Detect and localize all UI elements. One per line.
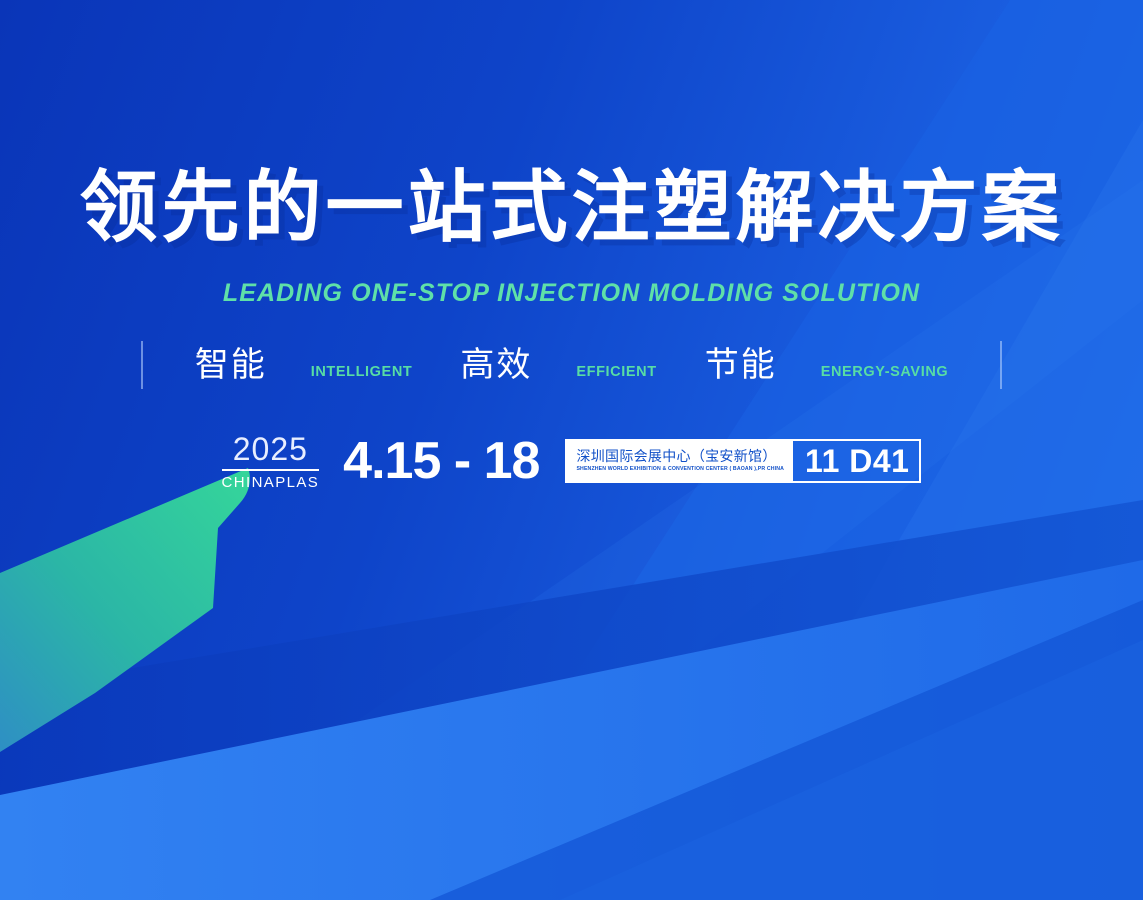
promo-banner: 领先的一站式注塑解决方案 LEADING ONE-STOP INJECTION … xyxy=(0,0,1143,900)
feature-label-en: ENERGY-SAVING xyxy=(821,365,949,380)
venue-block: 深圳国际会展中心（宝安新馆） SHENZHEN WORLD EXHIBITION… xyxy=(567,441,793,481)
venue-name-cn: 深圳国际会展中心（宝安新馆） xyxy=(576,449,784,464)
venue-name-en: SHENZHEN WORLD EXHIBITION & CONVENTION C… xyxy=(576,466,784,473)
event-dates: 4.15 - 18 xyxy=(343,435,539,487)
feature-item-intelligent: 智能 INTELLIGENT xyxy=(195,348,413,382)
feature-label-cn: 高效 xyxy=(460,348,532,382)
feature-label-cn: 节能 xyxy=(705,348,777,382)
feature-item-efficient: 高效 EFFICIENT xyxy=(460,348,656,382)
feature-label-cn: 智能 xyxy=(195,348,267,382)
venue-booth-box: 深圳国际会展中心（宝安新馆） SHENZHEN WORLD EXHIBITION… xyxy=(565,439,921,483)
chinaplas-year: 2025 xyxy=(222,433,320,465)
chinaplas-rule xyxy=(222,469,320,471)
feature-label-en: EFFICIENT xyxy=(576,365,656,380)
page-title: 领先的一站式注塑解决方案 xyxy=(0,168,1143,246)
chinaplas-logo: 2025 CHINAPLAS xyxy=(222,433,320,490)
chinaplas-name: CHINAPLAS xyxy=(222,475,320,490)
feature-list: 智能 INTELLIGENT 高效 EFFICIENT 节能 ENERGY-SA… xyxy=(0,336,1143,394)
feature-item-energy-saving: 节能 ENERGY-SAVING xyxy=(705,348,949,382)
divider-left xyxy=(141,341,143,389)
divider-right xyxy=(1000,341,1002,389)
feature-label-en: INTELLIGENT xyxy=(311,365,413,380)
booth-number: 11 D41 xyxy=(793,441,919,481)
page-subtitle: LEADING ONE-STOP INJECTION MOLDING SOLUT… xyxy=(0,279,1143,308)
event-info-bar: 2025 CHINAPLAS 4.15 - 18 深圳国际会展中心（宝安新馆） … xyxy=(0,430,1143,492)
